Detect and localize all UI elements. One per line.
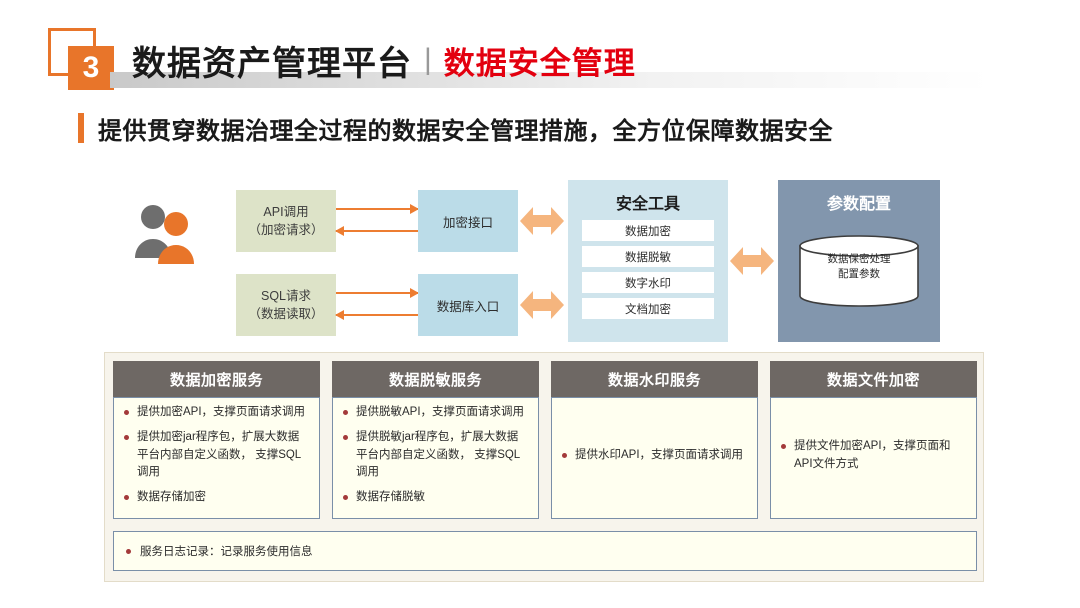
security-tools-panel: 安全工具 数据加密 数据脱敏 数字水印 文档加密 [568, 180, 728, 342]
service-bullet-list: 提供加密API，支撑页面请求调用 提供加密jar程序包，扩展大数据平台内部自定义… [124, 404, 309, 514]
page-title-main: 数据资产管理平台 [132, 36, 412, 85]
service-log-text: 服务日志记录：记录服务使用信息 [140, 543, 313, 559]
request-box-sql: SQL请求 （数据读取） [236, 274, 336, 336]
tool-item-data-masking[interactable]: 数据脱敏 [582, 246, 714, 267]
service-card-body: 提供文件加密API，支撑页面和API文件方式 [770, 397, 977, 519]
service-bullet-list: 提供脱敏API，支撑页面请求调用 提供脱敏jar程序包，扩展大数据平台内部自定义… [343, 404, 528, 514]
tool-item-digital-watermark[interactable]: 数字水印 [582, 272, 714, 293]
subtitle-text: 提供贯穿数据治理全过程的数据安全管理措施，全方位保障数据安全 [98, 111, 833, 146]
arrow-api-in [336, 230, 418, 232]
list-item: 数据存储加密 [124, 489, 309, 507]
request-box-api-line2: （加密请求） [248, 221, 323, 239]
services-section: 数据加密服务 提供加密API，支撑页面请求调用 提供加密jar程序包，扩展大数据… [104, 352, 984, 582]
list-item: 提供加密jar程序包，扩展大数据平台内部自定义函数， 支撑SQL调用 [124, 429, 309, 482]
page-header: 3 数据资产管理平台 | 数据安全管理 [0, 0, 1080, 100]
list-item: 提供水印API，支撑页面请求调用 [562, 447, 747, 465]
service-card-title: 数据水印服务 [551, 361, 758, 397]
service-card-file-encryption[interactable]: 数据文件加密 提供文件加密API，支撑页面和API文件方式 [770, 361, 977, 519]
service-card-title: 数据脱敏服务 [332, 361, 539, 397]
bullet-dot-icon [126, 549, 131, 554]
list-item: 提供加密API，支撑页面请求调用 [124, 404, 309, 422]
request-box-sql-line2: （数据读取） [248, 305, 323, 323]
security-tools-title: 安全工具 [568, 180, 728, 220]
arrow-sql-out [336, 292, 418, 294]
tool-item-document-encryption[interactable]: 文档加密 [582, 298, 714, 319]
service-card-data-watermark[interactable]: 数据水印服务 提供水印API，支撑页面请求调用 [551, 361, 758, 519]
service-card-title: 数据加密服务 [113, 361, 320, 397]
subtitle: 提供贯穿数据治理全过程的数据安全管理措施，全方位保障数据安全 [78, 108, 833, 148]
service-card-list: 数据加密服务 提供加密API，支撑页面请求调用 提供加密jar程序包，扩展大数据… [113, 361, 977, 519]
page-title: 数据资产管理平台 | 数据安全管理 [132, 36, 636, 84]
double-arrow-encrypt-tools [520, 204, 564, 243]
double-arrow-db-tools [520, 288, 564, 327]
double-arrow-tools-params [730, 244, 774, 283]
service-bullet-list: 提供水印API，支撑页面请求调用 [562, 447, 747, 472]
section-number-badge: 3 [68, 46, 114, 90]
two-users-icon [118, 202, 214, 269]
service-card-data-masking[interactable]: 数据脱敏服务 提供脱敏API，支撑页面请求调用 提供脱敏jar程序包，扩展大数据… [332, 361, 539, 519]
architecture-diagram: 功能应用 API调用 （加密请求） SQL请求 （数据读取） 加密接口 数据库入… [0, 170, 1080, 340]
arrow-api-out [336, 208, 418, 210]
entry-box-encrypt-api: 加密接口 [418, 190, 518, 252]
request-box-api: API调用 （加密请求） [236, 190, 336, 252]
list-item: 数据存储脱敏 [343, 489, 528, 507]
list-item: 提供脱敏API，支撑页面请求调用 [343, 404, 528, 422]
request-box-sql-line1: SQL请求 [261, 287, 311, 305]
page-title-accent: 数据安全管理 [444, 38, 636, 83]
request-box-api-line1: API调用 [263, 203, 308, 221]
service-card-body: 提供脱敏API，支撑页面请求调用 提供脱敏jar程序包，扩展大数据平台内部自定义… [332, 397, 539, 519]
service-card-data-encryption[interactable]: 数据加密服务 提供加密API，支撑页面请求调用 提供加密jar程序包，扩展大数据… [113, 361, 320, 519]
parameter-config-title: 参数配置 [778, 180, 940, 214]
title-separator: | [424, 43, 432, 77]
service-card-body: 提供加密API，支撑页面请求调用 提供加密jar程序包，扩展大数据平台内部自定义… [113, 397, 320, 519]
service-card-body: 提供水印API，支撑页面请求调用 [551, 397, 758, 519]
service-log-bar: 服务日志记录：记录服务使用信息 [113, 531, 977, 571]
service-bullet-list: 提供文件加密API，支撑页面和API文件方式 [781, 438, 966, 481]
service-card-title: 数据文件加密 [770, 361, 977, 397]
subtitle-accent-bar [78, 113, 84, 143]
list-item: 提供文件加密API，支撑页面和API文件方式 [781, 438, 966, 474]
arrow-sql-in [336, 314, 418, 316]
database-cylinder-label: 数据保密处理 配置参数 [798, 252, 920, 282]
db-label-line2: 配置参数 [798, 267, 920, 282]
db-label-line1: 数据保密处理 [798, 252, 920, 267]
tool-item-data-encryption[interactable]: 数据加密 [582, 220, 714, 241]
parameter-config-panel: 参数配置 数据保密处理 配置参数 [778, 180, 940, 342]
entry-box-db-entry: 数据库入口 [418, 274, 518, 336]
list-item: 提供脱敏jar程序包，扩展大数据平台内部自定义函数， 支撑SQL调用 [343, 429, 528, 482]
